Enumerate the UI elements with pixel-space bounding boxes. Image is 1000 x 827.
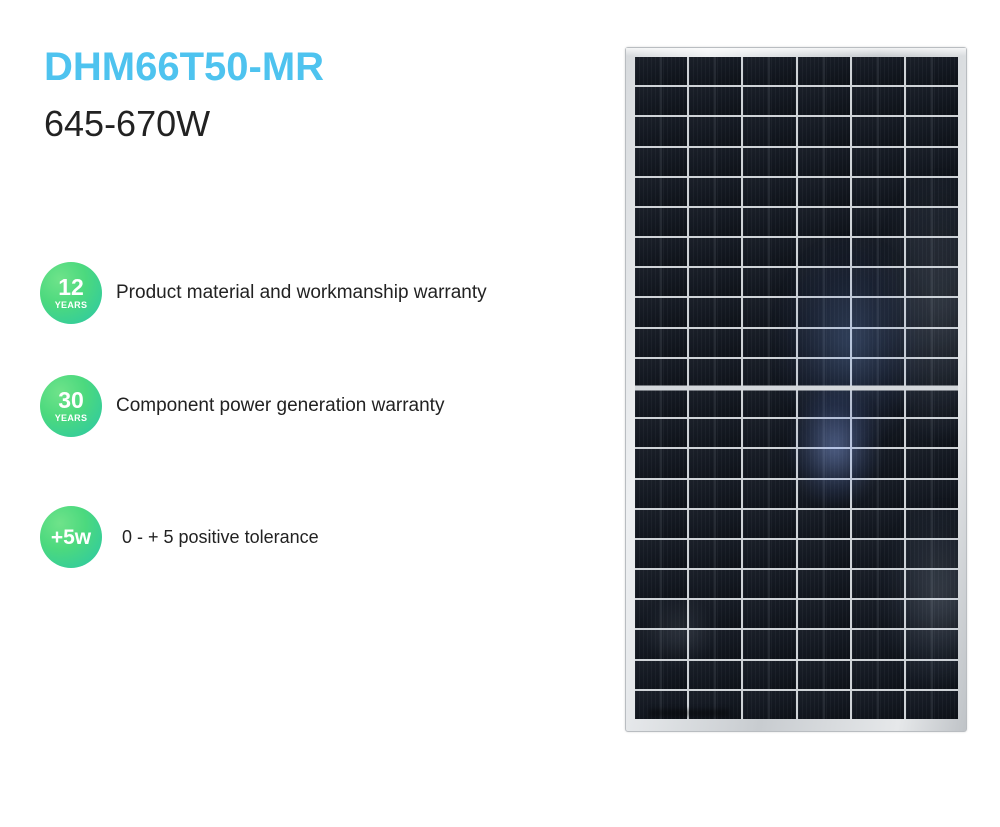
panel-cell [689, 87, 741, 115]
panel-cell [743, 268, 795, 296]
panel-cell [635, 87, 687, 115]
panel-cell [906, 359, 958, 387]
panel-cell [689, 419, 741, 447]
panel-cell [852, 570, 904, 598]
panel-cell [798, 570, 850, 598]
panel-cell [852, 691, 904, 719]
panel-cell [798, 510, 850, 538]
panel-cell [852, 87, 904, 115]
panel-cell [852, 117, 904, 145]
panel-cell [906, 480, 958, 508]
panel-bottom-shadow [649, 709, 729, 717]
panel-cell [852, 419, 904, 447]
panel-cell [798, 540, 850, 568]
panel-cell [743, 148, 795, 176]
panel-cell [635, 389, 687, 417]
panel-cell [635, 661, 687, 689]
panel-cell [743, 661, 795, 689]
panel-cell [743, 419, 795, 447]
panel-cell [852, 359, 904, 387]
panel-cell [743, 570, 795, 598]
panel-cell [689, 238, 741, 266]
product-spec-banner: DHM66T50-MR 645-670W 12 YEARS Product ma… [0, 0, 1000, 827]
badge-icon-plus-5w: +5w [40, 506, 102, 568]
panel-cell [743, 117, 795, 145]
panel-cell [635, 419, 687, 447]
panel-cell [906, 570, 958, 598]
panel-cell [689, 117, 741, 145]
panel-cell [798, 691, 850, 719]
panel-cell [635, 449, 687, 477]
panel-cell [635, 238, 687, 266]
panel-cell [689, 148, 741, 176]
panel-cell [798, 117, 850, 145]
panel-cell [689, 268, 741, 296]
panel-cell [743, 298, 795, 326]
badge-icon-30-years: 30 YEARS [40, 375, 102, 437]
panel-cell [798, 480, 850, 508]
panel-cell [906, 87, 958, 115]
product-model-title: DHM66T50-MR [44, 45, 324, 90]
panel-cell [743, 87, 795, 115]
product-power-range: 645-670W [44, 103, 210, 145]
panel-cell [635, 359, 687, 387]
panel-cell [743, 630, 795, 658]
panel-cell [689, 389, 741, 417]
panel-cell [852, 510, 904, 538]
badge-value: +5w [51, 527, 91, 548]
panel-cell [689, 570, 741, 598]
solar-panel-image [625, 47, 967, 732]
panel-cell [689, 359, 741, 387]
panel-cell [906, 540, 958, 568]
panel-cell [635, 510, 687, 538]
panel-cell [635, 570, 687, 598]
panel-cell [798, 329, 850, 357]
panel-cell [906, 661, 958, 689]
panel-cell [852, 480, 904, 508]
panel-cell [798, 449, 850, 477]
feature-item-warranty-product: 12 YEARS Product material and workmanshi… [40, 262, 487, 324]
panel-glass-surface [635, 57, 958, 719]
panel-cell [798, 298, 850, 326]
badge-value: 30 [58, 389, 84, 412]
panel-cell [689, 540, 741, 568]
panel-cell [743, 449, 795, 477]
panel-cell [798, 148, 850, 176]
panel-cell [635, 148, 687, 176]
panel-cell [689, 208, 741, 236]
panel-cell [852, 238, 904, 266]
panel-cell [743, 208, 795, 236]
panel-cell [743, 178, 795, 206]
badge-icon-12-years: 12 YEARS [40, 262, 102, 324]
panel-cell [635, 540, 687, 568]
panel-cell [906, 329, 958, 357]
panel-cell [689, 510, 741, 538]
panel-cell [635, 208, 687, 236]
panel-cell [852, 600, 904, 628]
panel-cell [635, 57, 687, 85]
panel-cell [689, 298, 741, 326]
panel-cell [798, 208, 850, 236]
panel-cell [852, 57, 904, 85]
panel-frame-highlight [626, 48, 966, 56]
panel-aluminium-frame [625, 47, 967, 732]
panel-cell [743, 480, 795, 508]
panel-cell [906, 57, 958, 85]
badge-unit: YEARS [55, 301, 88, 310]
panel-cell [852, 449, 904, 477]
panel-cell [906, 298, 958, 326]
feature-item-warranty-power: 30 YEARS Component power generation warr… [40, 375, 444, 437]
panel-cell [906, 178, 958, 206]
panel-cell [743, 691, 795, 719]
panel-cell [906, 268, 958, 296]
panel-cell [689, 449, 741, 477]
panel-cell [798, 630, 850, 658]
panel-cell [689, 57, 741, 85]
panel-cell [689, 661, 741, 689]
panel-cell [689, 630, 741, 658]
panel-cell [852, 178, 904, 206]
panel-mid-busbar [635, 386, 958, 391]
panel-cell [635, 600, 687, 628]
panel-cell [906, 117, 958, 145]
panel-cell [906, 510, 958, 538]
panel-cell [906, 148, 958, 176]
panel-cell [635, 480, 687, 508]
feature-item-positive-tolerance: +5w 0 - + 5 positive tolerance [40, 506, 319, 568]
panel-cell [852, 661, 904, 689]
panel-cell [852, 208, 904, 236]
panel-cell [635, 117, 687, 145]
panel-cell [798, 419, 850, 447]
panel-cell [798, 87, 850, 115]
panel-cell [906, 419, 958, 447]
panel-cell [743, 359, 795, 387]
panel-cell [798, 57, 850, 85]
panel-cell [689, 178, 741, 206]
panel-cell [743, 540, 795, 568]
left-info-column: DHM66T50-MR 645-670W 12 YEARS Product ma… [0, 0, 620, 827]
panel-cell [798, 600, 850, 628]
panel-cell [743, 510, 795, 538]
panel-cell [635, 298, 687, 326]
feature-label: 0 - + 5 positive tolerance [122, 527, 319, 548]
panel-cell [635, 268, 687, 296]
panel-cell [635, 329, 687, 357]
badge-value: 12 [58, 276, 84, 299]
panel-cell [798, 178, 850, 206]
panel-cell [852, 268, 904, 296]
badge-unit: YEARS [55, 414, 88, 423]
panel-cell [906, 691, 958, 719]
panel-cell [852, 630, 904, 658]
panel-cell [852, 148, 904, 176]
panel-cell [852, 329, 904, 357]
panel-cell [689, 600, 741, 628]
panel-cell [743, 600, 795, 628]
panel-cell [906, 238, 958, 266]
panel-cell [798, 359, 850, 387]
feature-label: Product material and workmanship warrant… [116, 282, 487, 304]
panel-cell [906, 630, 958, 658]
panel-cell [852, 540, 904, 568]
panel-cell [743, 238, 795, 266]
panel-cell [635, 178, 687, 206]
panel-cell [798, 268, 850, 296]
panel-cell [743, 329, 795, 357]
panel-cell [852, 298, 904, 326]
panel-cell [906, 208, 958, 236]
panel-cell [798, 238, 850, 266]
panel-cell [689, 480, 741, 508]
panel-cell [689, 329, 741, 357]
panel-cell [743, 389, 795, 417]
panel-cell [906, 600, 958, 628]
panel-cell [798, 389, 850, 417]
panel-cell [852, 389, 904, 417]
panel-cell [798, 661, 850, 689]
feature-label: Component power generation warranty [116, 395, 444, 417]
panel-cell [906, 449, 958, 477]
panel-cell [635, 630, 687, 658]
panel-cell [906, 389, 958, 417]
panel-cell [743, 57, 795, 85]
